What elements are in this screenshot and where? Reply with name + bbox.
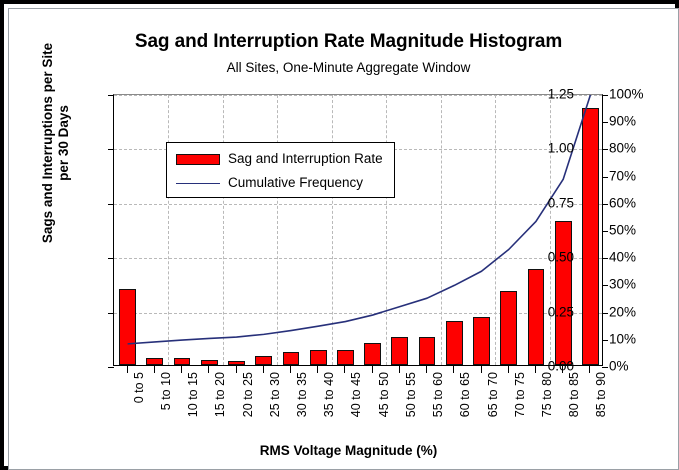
y-label-right-3: 30% xyxy=(609,277,659,292)
y-label-right-9: 90% xyxy=(609,114,659,129)
y-tick-right-1 xyxy=(602,340,608,341)
y-label-right-10: 100% xyxy=(609,87,659,102)
x-tick-9 xyxy=(372,366,373,373)
y-tick-right-6 xyxy=(602,204,608,205)
x-category-label-17: 85 to 90 xyxy=(594,372,608,417)
chart-frame: Sag and Interruption Rate Magnitude Hist… xyxy=(0,0,679,470)
x-tick-1 xyxy=(154,366,155,373)
x-category-label-10: 50 to 55 xyxy=(404,372,418,417)
y-tick-left-0 xyxy=(108,367,114,368)
y-label-left-4: 1.00 xyxy=(514,141,574,156)
x-category-label-12: 60 to 65 xyxy=(458,372,472,417)
y-tick-left-5 xyxy=(108,95,114,96)
legend-item-sag-and-interruption-rate: Sag and Interruption Rate xyxy=(176,147,386,171)
y-axis-left-title-line2: per 30 Days xyxy=(56,38,72,248)
y-tick-left-1 xyxy=(108,313,114,314)
x-category-label-16: 80 to 85 xyxy=(567,372,581,417)
y-tick-right-10 xyxy=(602,95,608,96)
x-category-label-1: 5 to 10 xyxy=(159,372,173,410)
x-tick-7 xyxy=(317,366,318,373)
legend-line-swatch-icon xyxy=(176,183,220,184)
x-category-label-7: 35 to 40 xyxy=(322,372,336,417)
y-tick-right-5 xyxy=(602,231,608,232)
y-tick-left-3 xyxy=(108,204,114,205)
y-label-left-2: 0.50 xyxy=(514,250,574,265)
x-tick-14 xyxy=(508,366,509,373)
y-tick-right-2 xyxy=(602,313,608,314)
chart-subtitle: All Sites, One-Minute Aggregate Window xyxy=(9,60,679,75)
y-label-right-5: 50% xyxy=(609,223,659,238)
x-tick-11 xyxy=(426,366,427,373)
x-category-label-14: 70 to 75 xyxy=(513,372,527,417)
x-tick-15 xyxy=(535,366,536,373)
y-axis-left-title: Sags and Interruptions per Site per 30 D… xyxy=(40,38,72,248)
y-label-right-7: 70% xyxy=(609,168,659,183)
legend-bar-swatch-icon xyxy=(176,154,220,165)
y-tick-right-9 xyxy=(602,122,608,123)
chart-title: Sag and Interruption Rate Magnitude Hist… xyxy=(9,31,679,53)
x-category-label-8: 40 to 45 xyxy=(349,372,363,417)
x-tick-12 xyxy=(453,366,454,373)
chart-inner-border: Sag and Interruption Rate Magnitude Hist… xyxy=(8,8,679,470)
y-tick-right-7 xyxy=(602,177,608,178)
x-tick-8 xyxy=(344,366,345,373)
x-category-label-0: 0 to 5 xyxy=(132,372,146,403)
x-tick-0 xyxy=(127,366,128,373)
x-category-label-9: 45 to 50 xyxy=(377,372,391,417)
x-axis-title: RMS Voltage Magnitude (%) xyxy=(9,443,679,458)
x-tick-3 xyxy=(208,366,209,373)
chart-legend: Sag and Interruption Rate Cumulative Fre… xyxy=(166,142,395,198)
x-tick-13 xyxy=(481,366,482,373)
y-tick-left-2 xyxy=(108,258,114,259)
x-tick-16 xyxy=(562,366,563,373)
x-tick-10 xyxy=(399,366,400,373)
y-label-right-4: 40% xyxy=(609,250,659,265)
y-tick-right-3 xyxy=(602,285,608,286)
y-label-left-1: 0.25 xyxy=(514,304,574,319)
y-label-left-3: 0.75 xyxy=(514,195,574,210)
y-label-right-8: 80% xyxy=(609,141,659,156)
y-label-right-6: 60% xyxy=(609,195,659,210)
y-tick-right-0 xyxy=(602,367,608,368)
y-label-left-5: 1.25 xyxy=(514,87,574,102)
x-category-label-15: 75 to 80 xyxy=(540,372,554,417)
y-tick-left-4 xyxy=(108,149,114,150)
x-tick-6 xyxy=(290,366,291,373)
legend-item-cumulative-frequency: Cumulative Frequency xyxy=(176,171,386,195)
x-category-label-2: 10 to 15 xyxy=(186,372,200,417)
x-category-label-11: 55 to 60 xyxy=(431,372,445,417)
x-category-label-4: 20 to 25 xyxy=(241,372,255,417)
x-category-label-3: 15 to 20 xyxy=(213,372,227,417)
y-label-right-1: 10% xyxy=(609,331,659,346)
legend-label-1: Cumulative Frequency xyxy=(228,171,363,195)
legend-label-0: Sag and Interruption Rate xyxy=(228,147,383,171)
y-label-right-2: 20% xyxy=(609,304,659,319)
plot-area xyxy=(113,94,603,366)
y-label-right-0: 0% xyxy=(609,359,659,374)
x-tick-17 xyxy=(589,366,590,373)
x-category-label-13: 65 to 70 xyxy=(486,372,500,417)
x-tick-2 xyxy=(181,366,182,373)
y-axis-left-title-line1: Sags and Interruptions per Site xyxy=(40,38,56,248)
x-tick-5 xyxy=(263,366,264,373)
y-tick-right-4 xyxy=(602,258,608,259)
y-tick-right-8 xyxy=(602,149,608,150)
x-category-label-6: 30 to 35 xyxy=(295,372,309,417)
x-tick-4 xyxy=(236,366,237,373)
cumulative-frequency-line xyxy=(114,95,604,367)
x-category-label-5: 25 to 30 xyxy=(268,372,282,417)
